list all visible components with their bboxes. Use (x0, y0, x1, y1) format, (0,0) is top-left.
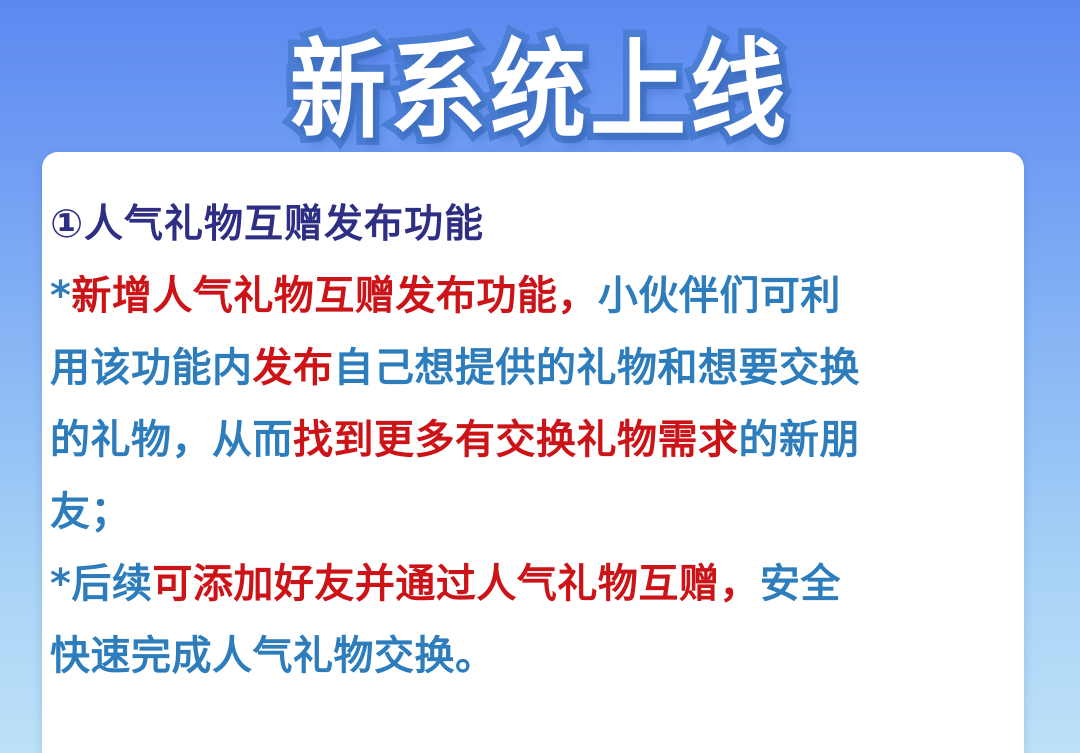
text-segment-star: * (50, 273, 71, 319)
content-card: ①人气礼物互赠发布功能*新增人气礼物互赠发布功能，小伙伴们可利用该功能内发布自己… (42, 152, 1024, 753)
text-segment-blue: 自己想提供的礼物和想要交换 (334, 345, 861, 391)
text-segment-star: * (50, 561, 71, 607)
text-segment-red: 新增人气礼物互赠发布功能， (71, 273, 598, 319)
text-segment-navy: ①人气礼物互赠发布功能 (50, 202, 484, 247)
text-line: ①人气礼物互赠发布功能 (50, 188, 1018, 260)
text-segment-red: 找到更多有交换礼物需求 (293, 417, 739, 463)
text-line: 用该功能内发布自己想提供的礼物和想要交换 (50, 332, 1018, 404)
poster-title: 新系统上线 (290, 28, 790, 153)
announcement-body: ①人气礼物互赠发布功能*新增人气礼物互赠发布功能，小伙伴们可利用该功能内发布自己… (50, 188, 1018, 692)
text-line: *新增人气礼物互赠发布功能，小伙伴们可利 (50, 260, 1018, 332)
text-segment-blue: 小伙伴们可利 (598, 273, 841, 319)
text-segment-blue: 友； (50, 489, 131, 535)
text-segment-blue: 快速完成人气礼物交换。 (50, 633, 496, 679)
text-line: 的礼物，从而找到更多有交换礼物需求的新朋 (50, 404, 1018, 476)
text-segment-blue: 的礼物，从而 (50, 417, 293, 463)
text-segment-red: 可添加好友并通过人气礼物互赠， (152, 561, 760, 607)
text-segment-blue: 后续 (71, 561, 152, 607)
text-segment-blue: 用该功能内 (50, 345, 253, 391)
text-line: *后续可添加好友并通过人气礼物互赠，安全 (50, 548, 1018, 620)
text-segment-blue: 安全 (760, 561, 841, 607)
text-line: 友； (50, 476, 1018, 548)
poster-title-container: 新系统上线 (0, 28, 1080, 140)
text-line: 快速完成人气礼物交换。 (50, 620, 1018, 692)
poster-root: 新系统上线 ①人气礼物互赠发布功能*新增人气礼物互赠发布功能，小伙伴们可利用该功… (0, 0, 1080, 753)
text-segment-red: 发布 (253, 345, 334, 391)
text-segment-blue: 的新朋 (739, 417, 861, 463)
